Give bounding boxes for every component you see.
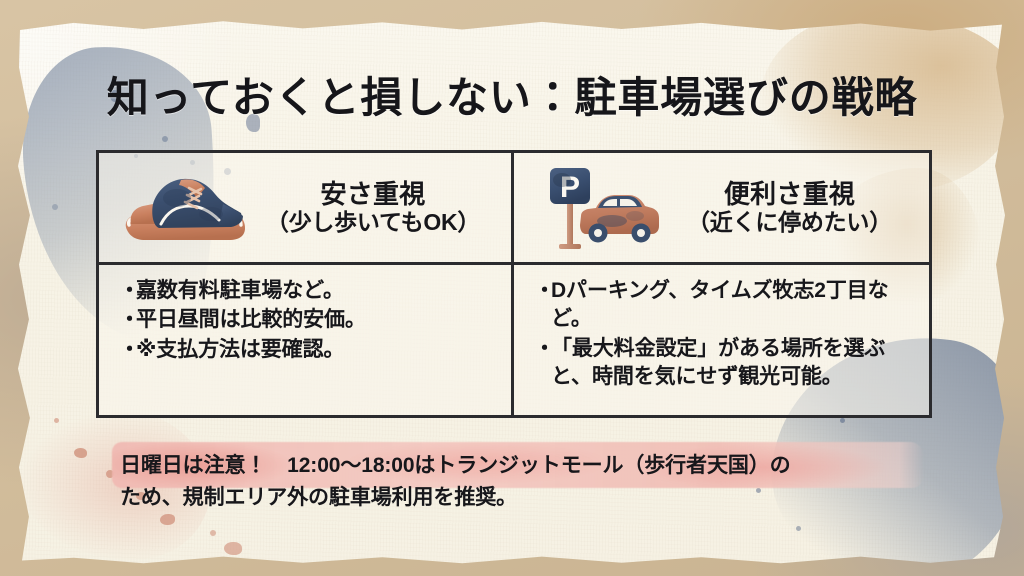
parking-car-icon: P: [540, 164, 662, 256]
bullet-marker: ・: [119, 277, 136, 304]
ink-speckle: [210, 530, 216, 536]
comparison-table: 安さ重視 （少し歩いてもOK）: [96, 150, 932, 418]
ink-speckle: [796, 526, 801, 531]
header-text-cheap: 安さ重視 （少し歩いてもOK）: [249, 179, 505, 237]
heading-sub-cheap: （少し歩いてもOK）: [249, 209, 497, 236]
list-item: ・ Dパーキング、タイムズ牧志2丁目など。: [534, 277, 915, 333]
ink-speckle: [840, 418, 845, 423]
page-title: 知っておくと損しない：駐車場選びの戦略: [0, 64, 1024, 125]
table-header-cell-cheap: 安さ重視 （少し歩いてもOK）: [99, 153, 514, 262]
list-item: ・ ※支払方法は要確認。: [119, 336, 497, 363]
heading-main-cheap: 安さ重視: [249, 179, 497, 210]
table-body-row: ・ 嘉数有料駐車場など。 ・ 平日昼間は比較的安価。 ・ ※支払方法は要確認。: [99, 262, 929, 415]
slide-canvas: 知っておくと損しない：駐車場選びの戦略: [0, 0, 1024, 576]
ink-speckle: [160, 514, 175, 525]
bullet-marker: ・: [119, 306, 136, 333]
list-item: ・ 嘉数有料駐車場など。: [119, 277, 497, 304]
heading-main-convenient: 便利さ重視: [664, 179, 915, 210]
list-item-text: 嘉数有料駐車場など。: [136, 277, 497, 304]
bullet-marker: ・: [119, 336, 136, 363]
list-item-text: 平日昼間は比較的安価。: [136, 306, 497, 333]
table-body-cell-convenient: ・ Dパーキング、タイムズ牧志2丁目など。 ・ 「最大料金設定」がある場所を選ぶ…: [514, 265, 929, 415]
list-item: ・ 「最大料金設定」がある場所を選ぶと、時間を気にせず観光可能。: [534, 335, 915, 391]
bullet-marker: ・: [534, 277, 551, 333]
header-text-convenient: 便利さ重視 （近くに停めたい）: [664, 179, 923, 237]
list-item-text: ※支払方法は要確認。: [136, 336, 497, 363]
sneaker-icon: [119, 168, 249, 252]
list-item-text: 「最大料金設定」がある場所を選ぶと、時間を気にせず観光可能。: [551, 335, 915, 391]
list-item: ・ 平日昼間は比較的安価。: [119, 306, 497, 333]
sneaker-icon-wrap: [109, 160, 249, 256]
table-body-cell-cheap: ・ 嘉数有料駐車場など。 ・ 平日昼間は比較的安価。 ・ ※支払方法は要確認。: [99, 265, 514, 415]
note-line-1: 日曜日は注意！ 12:00〜18:00はトランジットモール（歩行者天国）の: [120, 450, 930, 482]
ink-speckle: [162, 136, 168, 142]
ink-speckle: [52, 204, 58, 210]
list-item-text: Dパーキング、タイムズ牧志2丁目など。: [551, 277, 915, 333]
ink-speckle: [224, 542, 242, 555]
table-header-cell-convenient: P: [514, 153, 929, 262]
bullet-marker: ・: [534, 335, 551, 391]
heading-sub-convenient: （近くに停めたい）: [664, 209, 915, 236]
warning-note: 日曜日は注意！ 12:00〜18:00はトランジットモール（歩行者天国）の ため…: [120, 450, 930, 514]
parking-car-icon-wrap: P: [524, 160, 664, 256]
note-line-2: ため、規制エリア外の駐車場利用を推奨。: [120, 482, 930, 514]
table-header-row: 安さ重視 （少し歩いてもOK）: [99, 153, 929, 262]
ink-speckle: [54, 418, 59, 423]
ink-speckle: [74, 448, 87, 458]
